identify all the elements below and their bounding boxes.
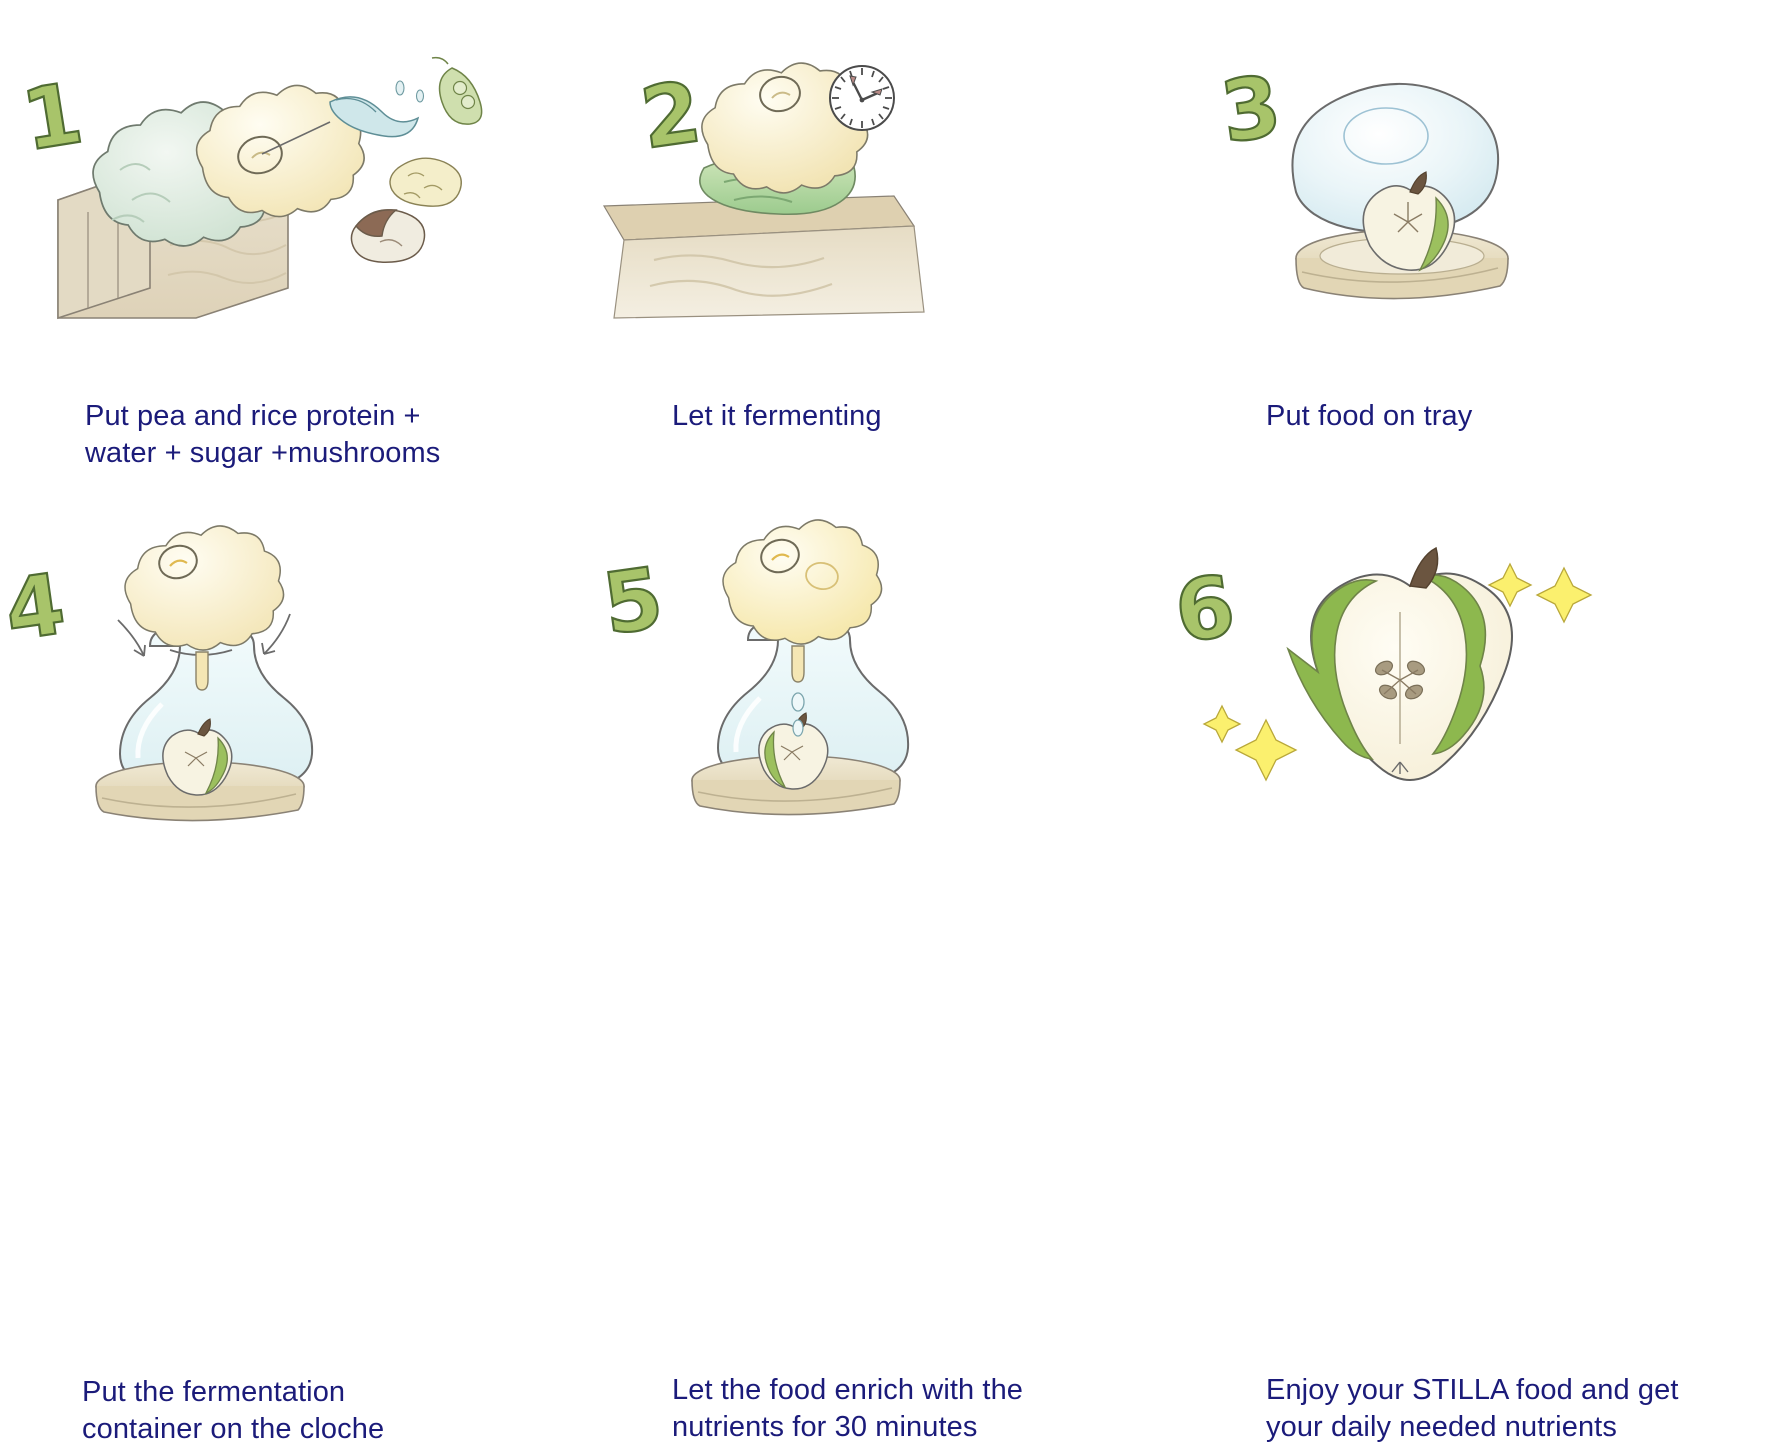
- sparkle-bottom-left: [1204, 706, 1240, 742]
- halved-green-apple: [1288, 548, 1512, 780]
- step-number-1: 1: [16, 64, 89, 170]
- infographic-board: 1 Put pea and rice protein + water + sug…: [0, 0, 1782, 988]
- step-number-5: 5: [597, 549, 669, 654]
- svg-text:6: 6: [1169, 557, 1241, 662]
- step-5-illustration: 5: [594, 514, 1188, 854]
- step-card-5: 5 Let the food enrich with the nutrients…: [594, 494, 1188, 988]
- step-card-3: 3 Put food on tray: [1188, 0, 1782, 494]
- step-card-2: 2 Let it fermenting: [594, 0, 1188, 494]
- step-4-caption: Put the fermentation container on the cl…: [82, 1374, 552, 1448]
- pea-pod-icon: [432, 58, 482, 125]
- svg-text:4: 4: [0, 555, 71, 660]
- sparkle-bottom-right: [1236, 720, 1296, 780]
- beige-surface: [604, 196, 924, 318]
- step-number-3: 3: [1215, 57, 1287, 162]
- svg-text:5: 5: [597, 549, 669, 654]
- step-3-illustration: 3: [1188, 50, 1782, 390]
- steps-grid: 1 Put pea and rice protein + water + sug…: [0, 0, 1782, 988]
- svg-text:3: 3: [1215, 57, 1287, 162]
- cream-protein-cloud: [125, 526, 284, 650]
- svg-text:2: 2: [635, 63, 707, 168]
- step-4-illustration: 4: [0, 514, 594, 854]
- step-number-4: 4: [0, 555, 71, 660]
- step-card-4: 4 Put the fermentation container on the …: [0, 494, 594, 988]
- step-5-caption: Let the food enrich with the nutrients f…: [672, 1372, 1142, 1446]
- mushroom-icon: [351, 210, 424, 262]
- step-card-1: 1 Put pea and rice protein + water + sug…: [0, 0, 594, 494]
- step-6-illustration: 6: [1188, 514, 1782, 854]
- step-3-caption: Put food on tray: [1266, 398, 1736, 435]
- rice-grains-icon: [390, 158, 461, 206]
- step-1-illustration: 1: [0, 50, 594, 390]
- cream-protein-cloud: [723, 520, 882, 644]
- step-2-caption: Let it fermenting: [672, 398, 1142, 435]
- clock-icon: [830, 66, 894, 130]
- sparkle-top-right: [1537, 568, 1591, 622]
- step-card-6: 6 Enjoy your STILLA food and get your da…: [1188, 494, 1782, 988]
- step-number-2: 2: [635, 63, 707, 168]
- step-number-6: 6: [1169, 557, 1241, 662]
- svg-text:1: 1: [16, 64, 89, 170]
- step-6-caption: Enjoy your STILLA food and get your dail…: [1266, 1372, 1736, 1446]
- step-2-illustration: 2: [594, 50, 1188, 390]
- step-1-caption: Put pea and rice protein + water + sugar…: [85, 398, 555, 472]
